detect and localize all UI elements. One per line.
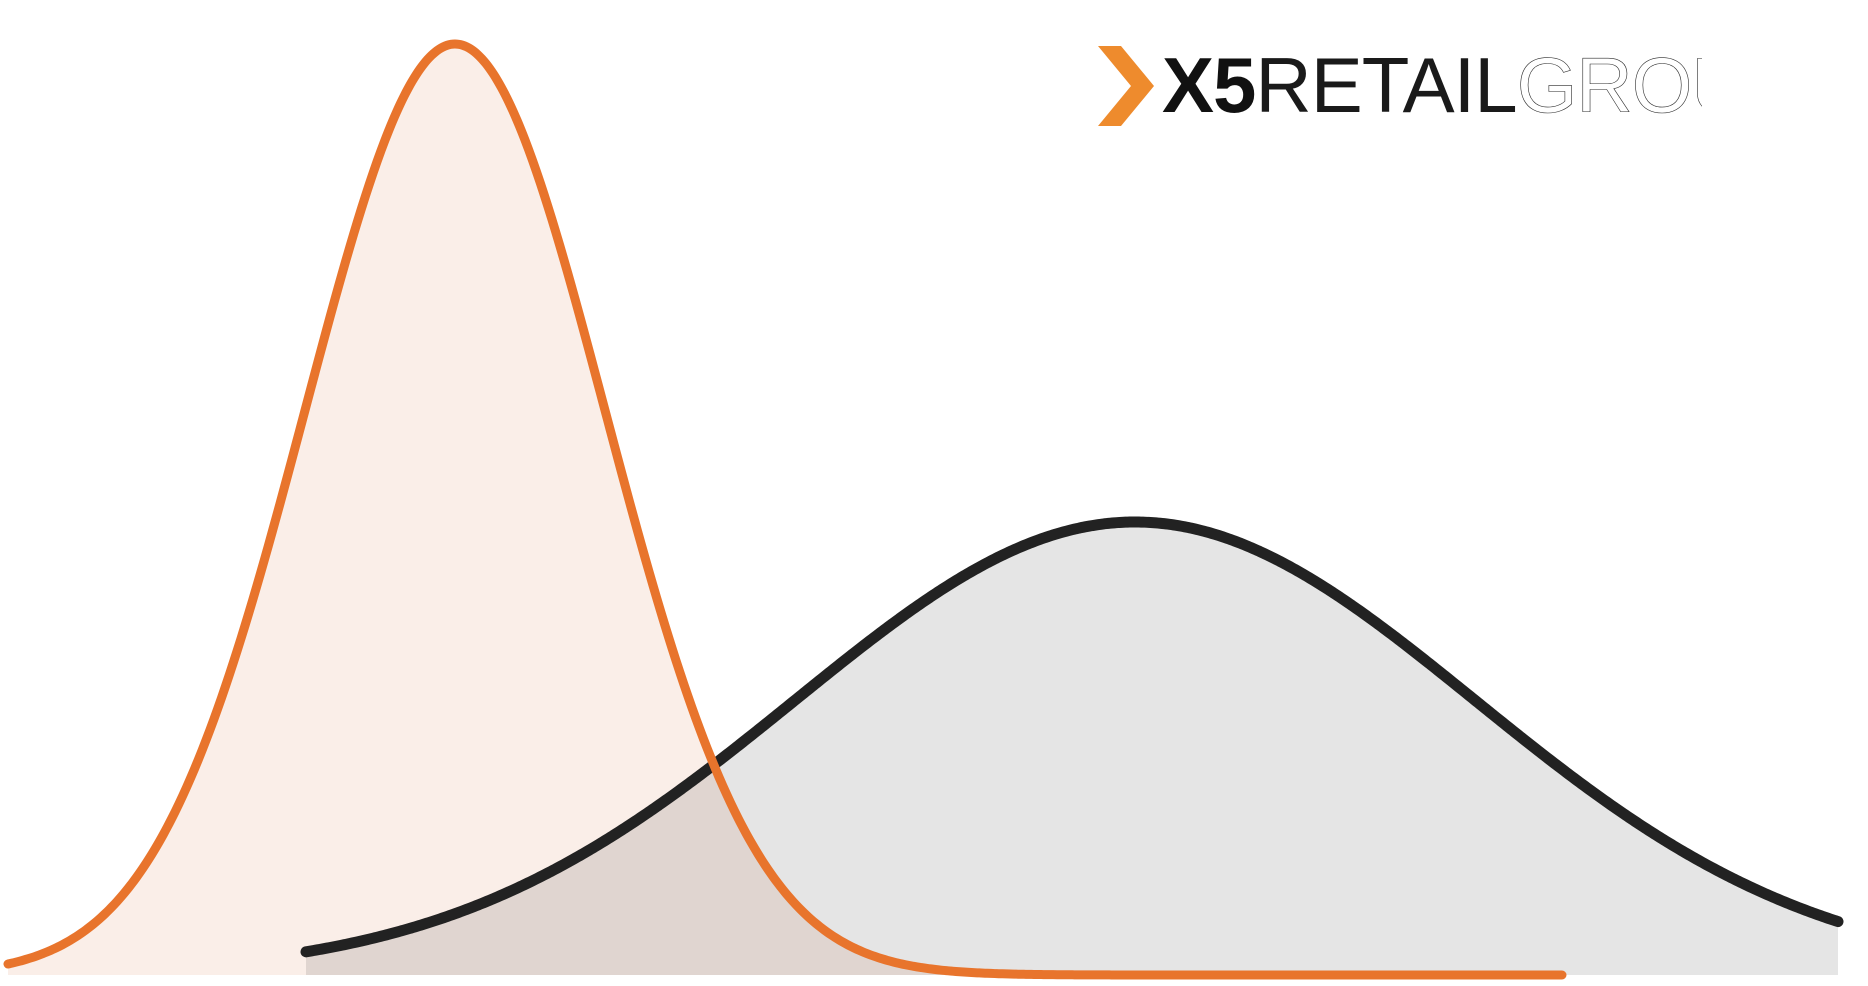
brand-word-group: GROUP [1517,41,1702,129]
chart-canvas: X5 RETAIL GROUP [0,0,1868,986]
brand-wordmark: X5 RETAIL GROUP [1162,40,1702,132]
chevron-right-icon [1094,40,1158,132]
brand-logo: X5 RETAIL GROUP [1092,38,1708,134]
brand-word-retail: RETAIL [1255,41,1516,129]
brand-word-x5: X5 [1162,41,1255,129]
distribution-chart [0,0,1868,986]
